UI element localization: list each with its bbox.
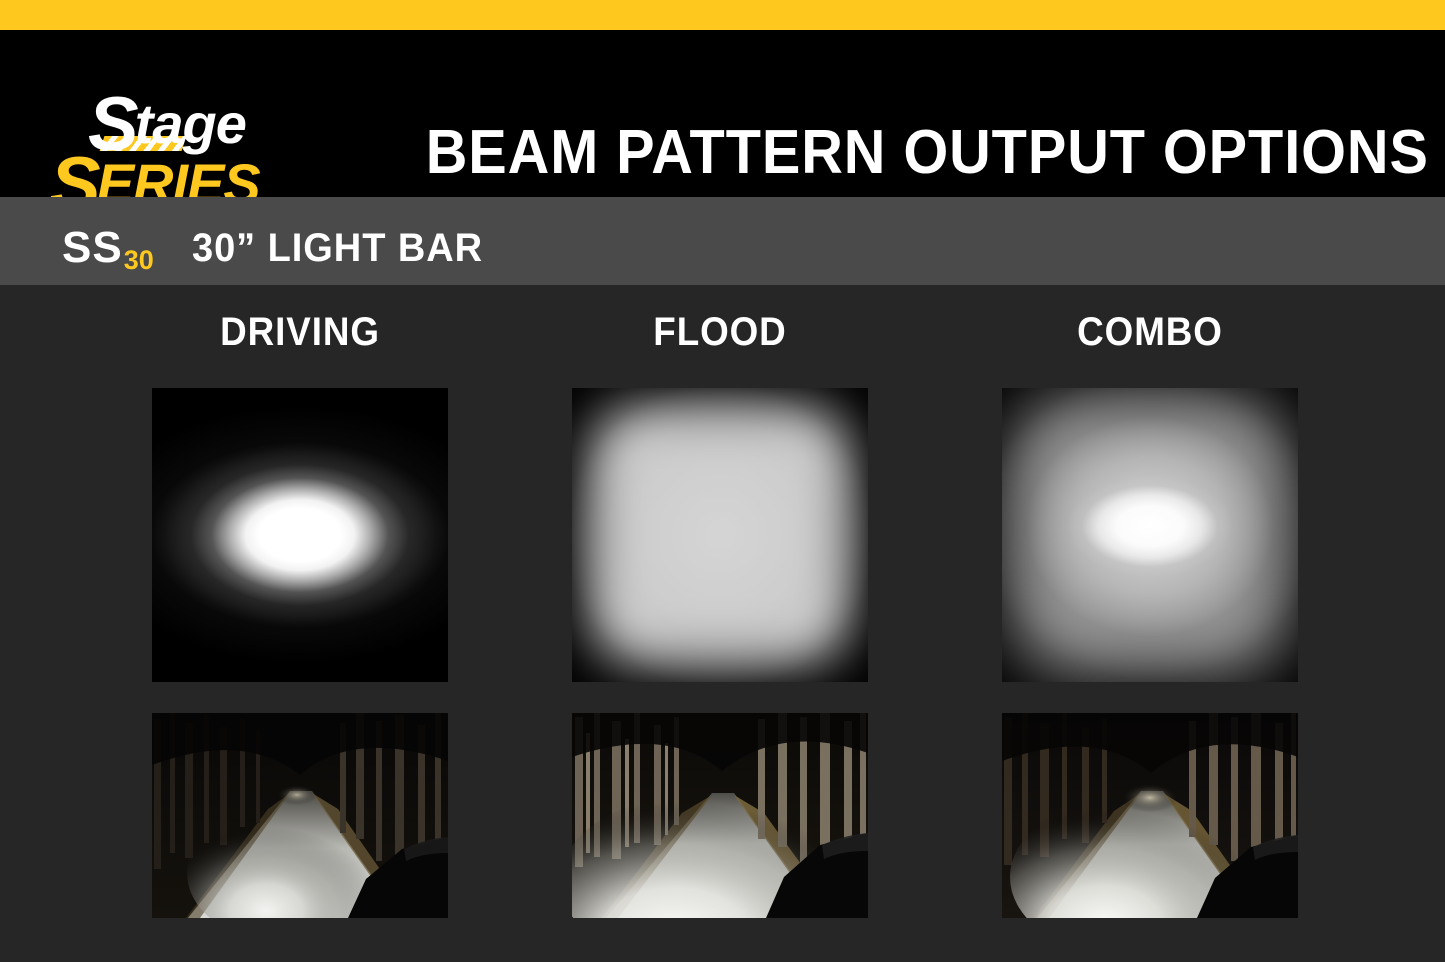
combo-beam-pattern (1002, 388, 1298, 682)
product-model-size: 30 (124, 245, 154, 275)
beam-comparison-grid: DRIVING (0, 285, 1445, 962)
driving-beam-hotspot (152, 388, 448, 682)
flood-beam-pattern (572, 388, 868, 682)
bottom-filler (0, 930, 1445, 962)
combo-beam-hotspot (1002, 388, 1298, 682)
driving-night-road-photo (152, 713, 448, 918)
column-heading-driving: DRIVING (107, 312, 493, 352)
combo-night-road-photo (1002, 713, 1298, 918)
beam-pattern-infographic: Stage SERIES BEAM PATTERN OUTPUT OPTIONS… (0, 0, 1445, 962)
product-model-main: SS (62, 223, 123, 272)
product-name-label: 30” LIGHT BAR (192, 228, 483, 268)
stage-series-logo: Stage SERIES (42, 78, 342, 208)
product-model-badge: SS30 (62, 226, 153, 270)
header-band: Stage SERIES BEAM PATTERN OUTPUT OPTIONS (0, 30, 1445, 197)
top-accent-stripe (0, 0, 1445, 30)
page-title: BEAM PATTERN OUTPUT OPTIONS (426, 122, 1375, 184)
column-heading-flood: FLOOD (527, 312, 913, 352)
column-heading-combo: COMBO (957, 312, 1343, 352)
flood-beam-core (572, 388, 868, 682)
driving-beam-pattern (152, 388, 448, 682)
flood-night-road-photo (572, 713, 868, 918)
